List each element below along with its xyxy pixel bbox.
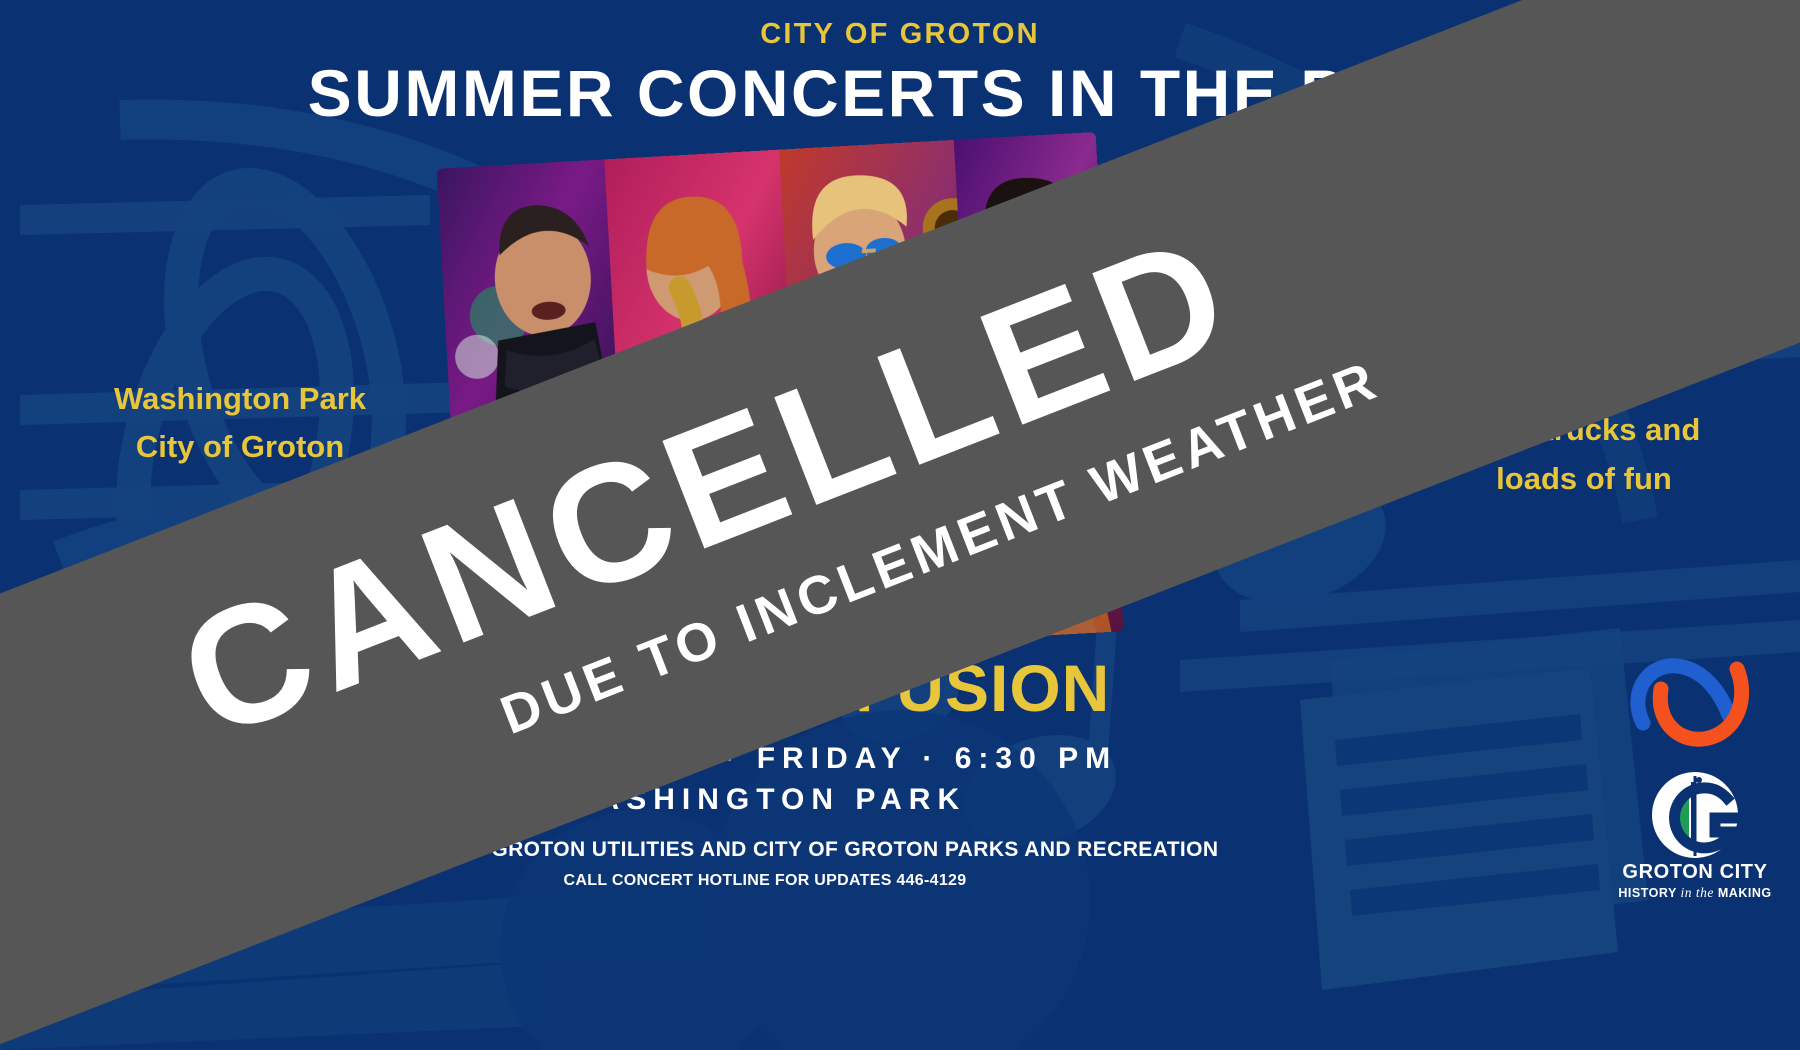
groton-city-logo: GROTON CITY HISTORY in the MAKING [1615,768,1775,903]
groton-city-mark-icon [1615,768,1775,863]
tagline-pre: HISTORY [1618,886,1680,900]
location-line-1: Washington Park [60,375,420,423]
groton-city-tagline: HISTORY in the MAKING [1615,885,1775,901]
tagline-italic: in the [1681,885,1714,900]
concert-poster: CITY OF GROTON SUMMER CONCERTS IN THE PA… [0,0,1800,1050]
tagline-post: MAKING [1714,886,1772,900]
groton-city-title: GROTON CITY [1615,861,1775,884]
groton-utilities-logo-icon [1625,645,1765,760]
